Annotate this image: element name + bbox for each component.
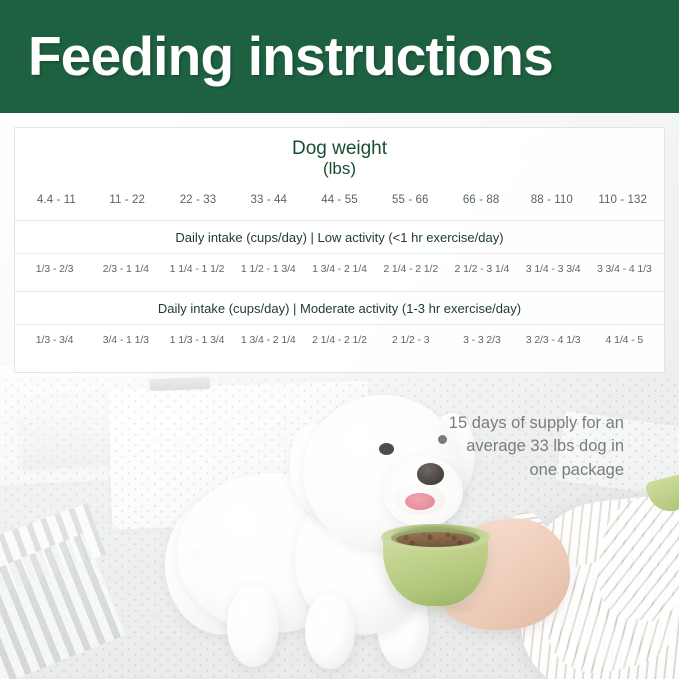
intake-value: 1/3 - 3/4 [19, 334, 90, 346]
photo-kibble [396, 532, 474, 547]
weight-column-header: 33 - 44 [233, 194, 304, 206]
intake-value: 3 1/4 - 3 3/4 [518, 263, 589, 275]
intake-value: 2 1/2 - 3 [375, 334, 446, 346]
weight-column-header: 44 - 55 [304, 194, 375, 206]
intake-row-moderate-activity: 1/3 - 3/4 3/4 - 1 1/3 1 1/3 - 1 3/4 1 3/… [15, 324, 664, 372]
intake-value: 2/3 - 1 1/4 [90, 263, 161, 275]
intake-value: 3 2/3 - 4 1/3 [518, 334, 589, 346]
section-heading-low-activity: Daily intake (cups/day) | Low activity (… [15, 220, 664, 253]
section-heading-moderate-activity: Daily intake (cups/day) | Moderate activ… [15, 291, 664, 324]
intake-value: 1 3/4 - 2 1/4 [304, 263, 375, 275]
intake-value: 2 1/4 - 2 1/2 [304, 334, 375, 346]
intake-value: 3 3/4 - 4 1/3 [589, 263, 660, 275]
feeding-chart-table: Dog weight (lbs) 4.4 - 11 11 - 22 22 - 3… [14, 127, 665, 373]
page-title: Feeding instructions [0, 29, 553, 84]
table-title-main: Dog weight [15, 138, 664, 160]
supply-note-line-1: 15 days of supply for an [414, 412, 624, 435]
weight-columns-row: 4.4 - 11 11 - 22 22 - 33 33 - 44 44 - 55… [15, 184, 664, 220]
weight-column-header: 66 - 88 [446, 194, 517, 206]
weight-column-header: 11 - 22 [92, 194, 163, 206]
table-title-row: Dog weight (lbs) [15, 128, 664, 184]
intake-value: 1 1/3 - 1 3/4 [161, 334, 232, 346]
supply-note-line-2: average 33 lbs dog in [414, 435, 624, 458]
intake-value: 1 1/4 - 1 1/2 [161, 263, 232, 275]
dog-eye-left [379, 443, 394, 455]
intake-value: 2 1/2 - 3 1/4 [446, 263, 517, 275]
dog-front-leg-left [227, 585, 279, 667]
intake-value: 2 1/4 - 2 1/2 [375, 263, 446, 275]
intake-value: 1 1/2 - 1 3/4 [233, 263, 304, 275]
weight-column-header: 4.4 - 11 [21, 194, 92, 206]
weight-column-header: 88 - 110 [516, 194, 587, 206]
weight-column-header: 55 - 66 [375, 194, 446, 206]
dog-front-leg-right [305, 593, 355, 669]
intake-value: 3/4 - 1 1/3 [90, 334, 161, 346]
intake-value: 1 3/4 - 2 1/4 [233, 334, 304, 346]
table-title-units: (lbs) [15, 160, 664, 178]
intake-row-low-activity: 1/3 - 2/3 2/3 - 1 1/4 1 1/4 - 1 1/2 1 1/… [15, 253, 664, 291]
supply-note-line-3: one package [414, 459, 624, 482]
header-banner: Feeding instructions [0, 0, 679, 113]
intake-value: 1/3 - 2/3 [19, 263, 90, 275]
weight-column-header: 22 - 33 [163, 194, 234, 206]
weight-column-header: 110 - 132 [587, 194, 658, 206]
intake-value: 3 - 3 2/3 [446, 334, 517, 346]
intake-value: 4 1/4 - 5 [589, 334, 660, 346]
dog-tongue [405, 493, 435, 510]
supply-note: 15 days of supply for an average 33 lbs … [414, 412, 624, 482]
